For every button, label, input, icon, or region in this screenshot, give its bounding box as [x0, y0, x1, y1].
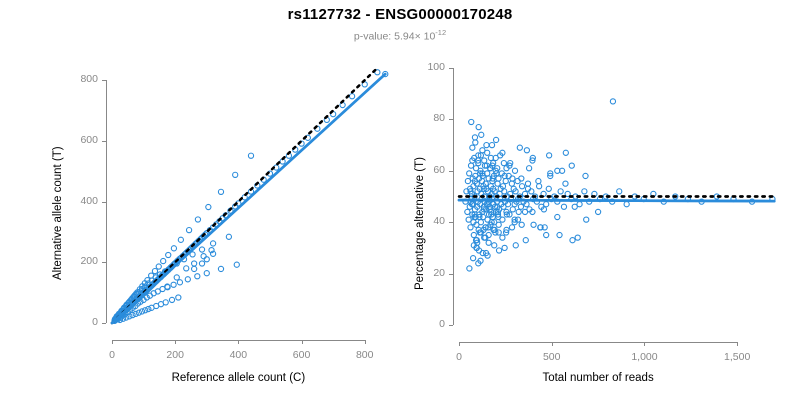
data-point: [482, 158, 487, 163]
y-tick-label: 0: [401, 318, 445, 330]
data-point: [518, 204, 523, 209]
data-point: [570, 238, 575, 243]
data-point: [527, 166, 532, 171]
data-point: [584, 217, 589, 222]
data-point: [468, 163, 473, 168]
y-tick: [449, 119, 453, 120]
data-point: [493, 137, 498, 142]
x-tick-label: 0: [429, 351, 489, 363]
data-point: [555, 214, 560, 219]
data-point: [582, 189, 587, 194]
data-point: [467, 266, 472, 271]
data-point: [467, 171, 472, 176]
data-point: [563, 150, 568, 155]
y-tick: [449, 171, 453, 172]
data-point: [509, 225, 514, 230]
data-point: [524, 148, 529, 153]
data-point: [523, 238, 528, 243]
plot-area-percentage-alternative: [0, 0, 800, 400]
data-point: [479, 132, 484, 137]
data-point: [563, 181, 568, 186]
data-point: [496, 248, 501, 253]
data-point: [480, 148, 485, 153]
y-axis-line: [453, 68, 454, 325]
y-tick-label: 80: [401, 112, 445, 124]
data-point: [495, 181, 500, 186]
data-point: [546, 186, 551, 191]
y-tick: [449, 325, 453, 326]
data-point: [547, 153, 552, 158]
x-axis-line: [459, 342, 737, 343]
y-tick-label: 100: [401, 61, 445, 73]
x-tick: [552, 342, 553, 346]
x-tick: [459, 342, 460, 346]
data-point: [558, 189, 563, 194]
data-point: [536, 178, 541, 183]
data-point: [544, 202, 549, 207]
data-point: [617, 189, 622, 194]
data-point: [510, 207, 515, 212]
data-point: [519, 222, 524, 227]
data-point: [500, 235, 505, 240]
data-point: [476, 125, 481, 130]
data-point: [496, 176, 501, 181]
data-point: [512, 168, 517, 173]
data-point: [624, 202, 629, 207]
data-point: [509, 181, 514, 186]
y-axis-title: Percentage alternative (T): [414, 157, 426, 290]
x-tick: [644, 342, 645, 346]
data-point: [501, 160, 506, 165]
data-points: [463, 99, 775, 271]
x-tick-label: 500: [522, 351, 582, 363]
data-point: [496, 222, 501, 227]
data-point: [569, 163, 574, 168]
data-point: [519, 184, 524, 189]
data-point: [465, 209, 470, 214]
data-point: [531, 222, 536, 227]
data-point: [472, 135, 477, 140]
data-point: [522, 209, 527, 214]
data-point: [583, 173, 588, 178]
data-point: [489, 143, 494, 148]
data-point: [471, 232, 476, 237]
data-point: [575, 235, 580, 240]
data-point: [502, 245, 507, 250]
data-point: [470, 145, 475, 150]
data-point: [537, 184, 542, 189]
y-tick: [449, 274, 453, 275]
data-point: [610, 99, 615, 104]
data-point: [572, 204, 577, 209]
figure-canvas: rs1127732 - ENSG00000170248 p-value: 5.9…: [0, 0, 800, 400]
data-point: [484, 143, 489, 148]
data-point: [519, 176, 524, 181]
data-point: [544, 232, 549, 237]
data-point: [515, 178, 520, 183]
data-point: [478, 220, 483, 225]
x-tick: [737, 342, 738, 346]
data-point: [503, 178, 508, 183]
y-tick: [449, 222, 453, 223]
mean-line-overlay: [459, 200, 774, 201]
data-point: [486, 240, 491, 245]
data-point: [517, 145, 522, 150]
data-point: [469, 119, 474, 124]
data-point: [557, 232, 562, 237]
x-tick-label: 1,500: [707, 351, 767, 363]
data-point: [473, 140, 478, 145]
data-point: [510, 176, 515, 181]
data-point: [561, 204, 566, 209]
data-point: [513, 243, 518, 248]
x-tick-label: 1,000: [614, 351, 674, 363]
data-point: [516, 209, 521, 214]
data-point: [468, 225, 473, 230]
x-axis-title: Total number of reads: [448, 372, 748, 384]
y-tick: [449, 68, 453, 69]
data-point: [492, 243, 497, 248]
data-point: [471, 256, 476, 261]
data-point: [596, 209, 601, 214]
data-point: [525, 181, 530, 186]
